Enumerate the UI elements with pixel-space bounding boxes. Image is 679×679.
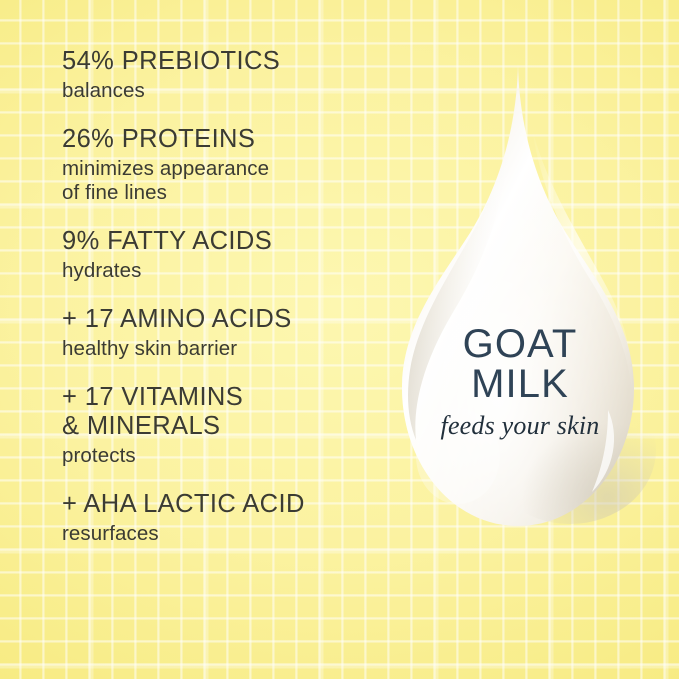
ingredient-heading: + 17 VITAMINS & MINERALS	[62, 383, 392, 441]
milk-droplet-icon	[382, 58, 662, 548]
list-item: + AHA LACTIC ACID resurfaces	[62, 490, 392, 546]
list-item: 54% PREBIOTICS balances	[62, 47, 392, 103]
list-item: 26% PROTEINS minimizes appearance of fin…	[62, 125, 392, 205]
ingredient-list: 54% PREBIOTICS balances 26% PROTEINS min…	[62, 47, 392, 546]
ingredient-benefit: healthy skin barrier	[62, 337, 392, 361]
list-item: + 17 AMINO ACIDS healthy skin barrier	[62, 305, 392, 361]
ingredient-benefit: protects	[62, 444, 392, 468]
ingredient-benefit: hydrates	[62, 259, 392, 283]
ingredient-benefit: minimizes appearance of fine lines	[62, 157, 392, 205]
goat-milk-infographic: 54% PREBIOTICS balances 26% PROTEINS min…	[0, 0, 679, 679]
ingredient-benefit: resurfaces	[62, 522, 392, 546]
ingredient-heading: + 17 AMINO ACIDS	[62, 305, 392, 334]
ingredient-heading: 26% PROTEINS	[62, 125, 392, 154]
list-item: 9% FATTY ACIDS hydrates	[62, 227, 392, 283]
ingredient-heading: 54% PREBIOTICS	[62, 47, 392, 76]
ingredient-heading: + AHA LACTIC ACID	[62, 490, 392, 519]
list-item: + 17 VITAMINS & MINERALS protects	[62, 383, 392, 468]
ingredient-heading: 9% FATTY ACIDS	[62, 227, 392, 256]
ingredient-benefit: balances	[62, 79, 392, 103]
